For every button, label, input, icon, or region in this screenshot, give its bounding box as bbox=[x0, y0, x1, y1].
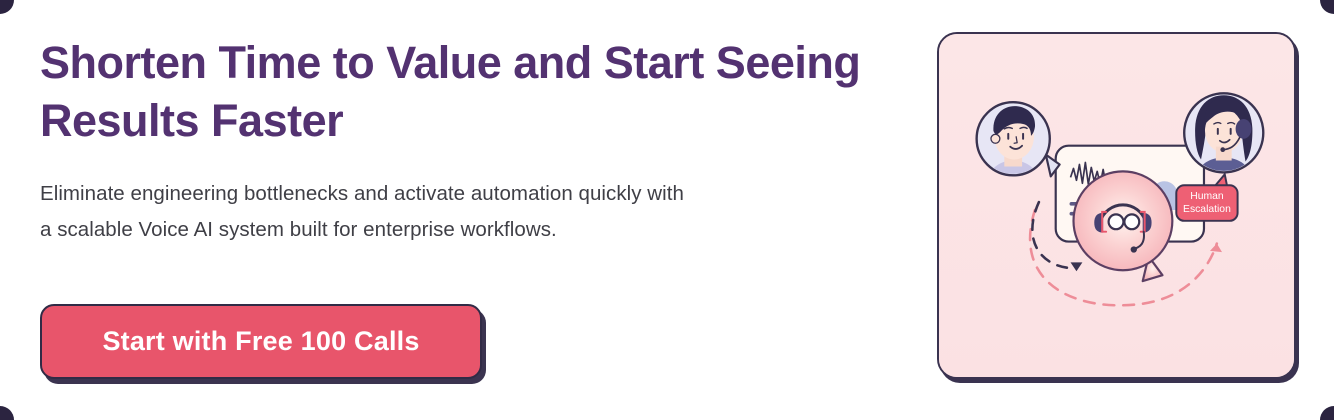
corner-mark-bottom-right bbox=[1320, 406, 1334, 420]
voice-ai-illustration: Human Escalation bbox=[939, 34, 1294, 377]
corner-mark-bottom-left bbox=[0, 406, 14, 420]
escalation-badge-line2: Escalation bbox=[1183, 204, 1231, 215]
corner-mark-top-right bbox=[1320, 0, 1334, 14]
bot-eye-left bbox=[1109, 214, 1124, 229]
illustration-panel: Human Escalation bbox=[937, 32, 1296, 379]
copy-block: Shorten Time to Value and Start Seeing R… bbox=[40, 34, 920, 248]
corner-mark-top-left bbox=[0, 0, 14, 14]
start-free-calls-button[interactable]: Start with Free 100 Calls bbox=[40, 304, 482, 379]
cta-container: Start with Free 100 Calls bbox=[40, 304, 482, 379]
promo-banner: Shorten Time to Value and Start Seeing R… bbox=[0, 0, 1334, 420]
subheading-text: Eliminate engineering bottlenecks and ac… bbox=[40, 176, 920, 248]
escalation-badge-line1: Human bbox=[1190, 191, 1224, 202]
headset-earpiece bbox=[1236, 119, 1252, 139]
bot-eye-right bbox=[1124, 214, 1139, 229]
page-title: Shorten Time to Value and Start Seeing R… bbox=[40, 34, 920, 150]
